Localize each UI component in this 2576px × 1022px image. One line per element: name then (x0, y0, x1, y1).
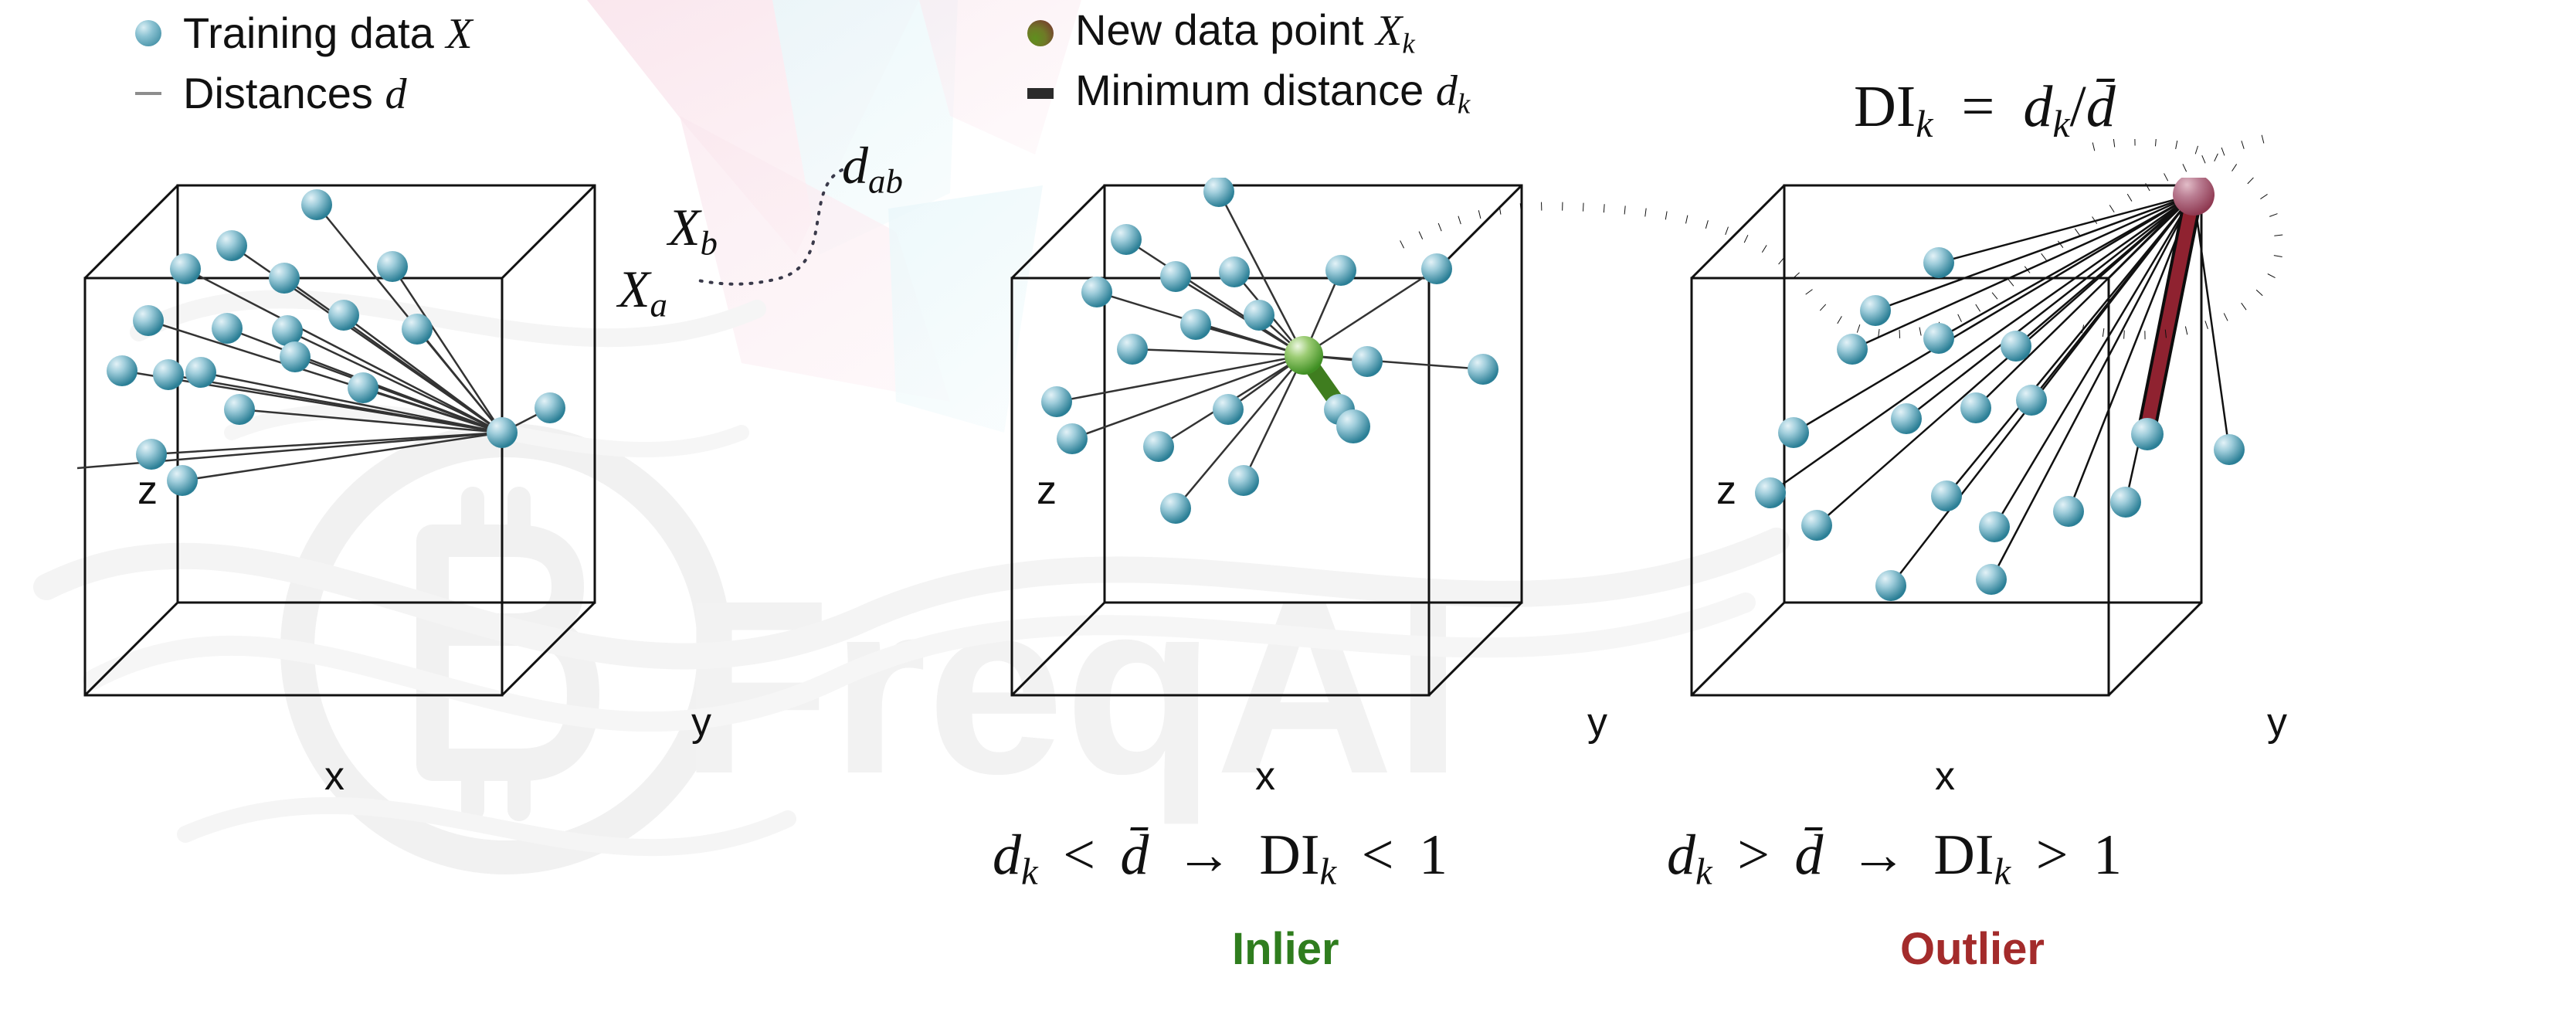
axis-label-z-panel1: z (137, 467, 158, 514)
training-point-xa (487, 417, 518, 448)
training-point (1213, 394, 1244, 425)
legend-label-training: Training data X (183, 12, 473, 56)
training-point (2016, 385, 2047, 416)
training-point (1057, 423, 1088, 454)
training-point (1931, 480, 1962, 511)
training-point (1111, 224, 1142, 255)
training-point (185, 357, 216, 388)
verdict-outlier: Outlier (1900, 923, 2045, 975)
training-point (348, 372, 378, 403)
legend-marker-min-distance-line (1027, 88, 1054, 99)
training-point (280, 341, 311, 372)
axis-label-x-panel3: x (1935, 753, 1955, 800)
label-xa: Xa (618, 259, 667, 325)
axis-label-x-panel1: x (324, 753, 344, 800)
training-point (1219, 256, 1250, 287)
axis-label-z-panel3: z (1716, 467, 1736, 514)
caption-outlier-formula: dk > d̄ → DIk > 1 (1667, 823, 2122, 894)
training-point (301, 189, 332, 220)
training-point (1801, 510, 1832, 541)
training-point (1923, 247, 1954, 278)
training-point (1160, 261, 1191, 292)
training-point (133, 305, 164, 336)
legend-marker-new-point (1027, 20, 1054, 46)
training-point (377, 251, 408, 282)
training-point (216, 230, 247, 261)
training-point (1180, 309, 1211, 340)
training-point (269, 263, 300, 294)
training-point (1860, 295, 1891, 326)
legend-marker-distance-line (135, 92, 161, 95)
training-point (212, 313, 243, 344)
axis-label-y-panel2: y (1587, 699, 1607, 745)
training-point (1228, 465, 1259, 496)
arrow-icon: → (1850, 823, 1907, 887)
training-point (2001, 331, 2031, 362)
training-point (1923, 323, 1954, 354)
training-point (136, 439, 167, 470)
leader-arc-outlier (2070, 139, 2394, 448)
training-point (1960, 392, 1991, 423)
training-point (170, 253, 201, 284)
cube-wireframe-training (85, 185, 595, 695)
legend-label-new-point: New data point Xk (1075, 8, 1415, 58)
caption-inlier-formula: dk < d̄ → DIk < 1 (993, 823, 1448, 894)
training-point-xb (535, 392, 565, 423)
axis-label-y-panel3: y (2267, 699, 2287, 745)
verdict-inlier: Inlier (1232, 923, 1339, 975)
training-point (2053, 496, 2084, 527)
training-point (1837, 334, 1868, 365)
arrow-icon: → (1176, 823, 1233, 887)
training-point (1891, 403, 1922, 434)
leader-dab (680, 147, 881, 324)
training-point-nearest (1336, 409, 1370, 443)
figure-root: FreqAI Training data X Distances d (0, 0, 2576, 1022)
training-point (1041, 386, 1072, 417)
training-point (1976, 564, 2007, 595)
training-point (167, 465, 198, 496)
training-point (1160, 493, 1191, 524)
training-points-group (107, 189, 565, 496)
training-point (1081, 277, 1112, 307)
training-point (1325, 255, 1356, 286)
training-point (1203, 178, 1234, 207)
new-data-point-inlier (1285, 336, 1323, 375)
legend-left: Training data X Distances d (135, 8, 473, 119)
training-point (1875, 570, 1906, 601)
training-point (1143, 431, 1174, 462)
training-point (402, 314, 433, 345)
axis-label-y-panel1: y (691, 699, 711, 745)
training-point (328, 300, 359, 331)
axis-label-x-panel2: x (1255, 753, 1275, 800)
training-point (1755, 477, 1786, 508)
training-point (2110, 487, 2141, 518)
training-point (107, 355, 137, 386)
training-point (1979, 511, 2010, 542)
training-point (1778, 417, 1809, 448)
legend-label-distances: Distances d (183, 72, 406, 116)
axis-label-z-panel2: z (1037, 467, 1057, 514)
training-point (1244, 300, 1274, 331)
legend-marker-training-point (135, 20, 161, 46)
training-point (272, 315, 303, 346)
training-point (153, 359, 184, 390)
training-point (224, 394, 255, 425)
training-point (1117, 334, 1148, 365)
